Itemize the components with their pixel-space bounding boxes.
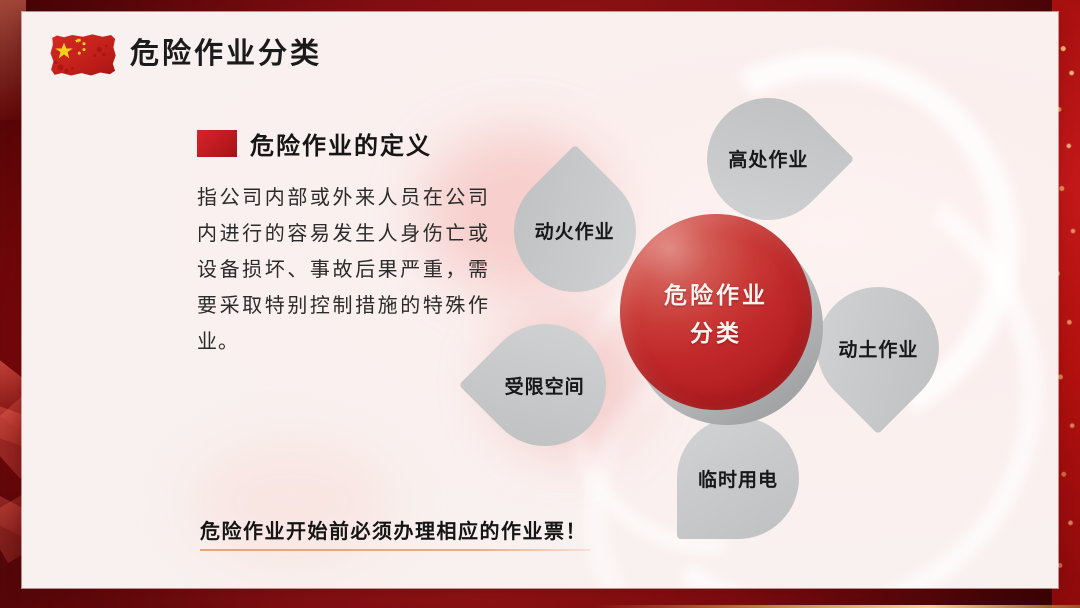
classification-diagram: 高处作业 动火作业 动土作业 受限空间 临时用电 危险作业 分类 <box>462 72 1042 572</box>
petal-shouxian-kongjian[interactable]: 受限空间 <box>459 299 632 472</box>
petal-linshi-yongdian[interactable]: 临时用电 <box>677 417 799 539</box>
pink-glow-decor <box>192 442 392 562</box>
content-panel: 危险作业分类 危险作业的定义 指公司内部或外来人员在公司内进行的容易发生人身伤亡… <box>22 12 1058 588</box>
hub-label-line2: 分类 <box>690 314 742 348</box>
petal-label: 受限空间 <box>505 371 585 398</box>
petal-label: 动土作业 <box>838 335 918 362</box>
section-title: 危险作业的定义 <box>250 126 432 161</box>
petal-label: 高处作业 <box>728 146 808 173</box>
hub-circle[interactable]: 危险作业 分类 <box>620 214 812 410</box>
section-marker <box>197 130 237 157</box>
definition-paragraph: 指公司内部或外来人员在公司内进行的容易发生人身伤亡或设备损坏、事故后果严重，需要… <box>197 180 489 360</box>
petal-label: 临时用电 <box>698 465 778 492</box>
hub-label-line1: 危险作业 <box>664 276 768 310</box>
slide-root: 危险作业分类 危险作业的定义 指公司内部或外来人员在公司内进行的容易发生人身伤亡… <box>0 0 1080 608</box>
page-title: 危险作业分类 <box>130 30 322 72</box>
petal-label: 动火作业 <box>535 217 615 244</box>
china-flag-icon <box>48 32 120 79</box>
